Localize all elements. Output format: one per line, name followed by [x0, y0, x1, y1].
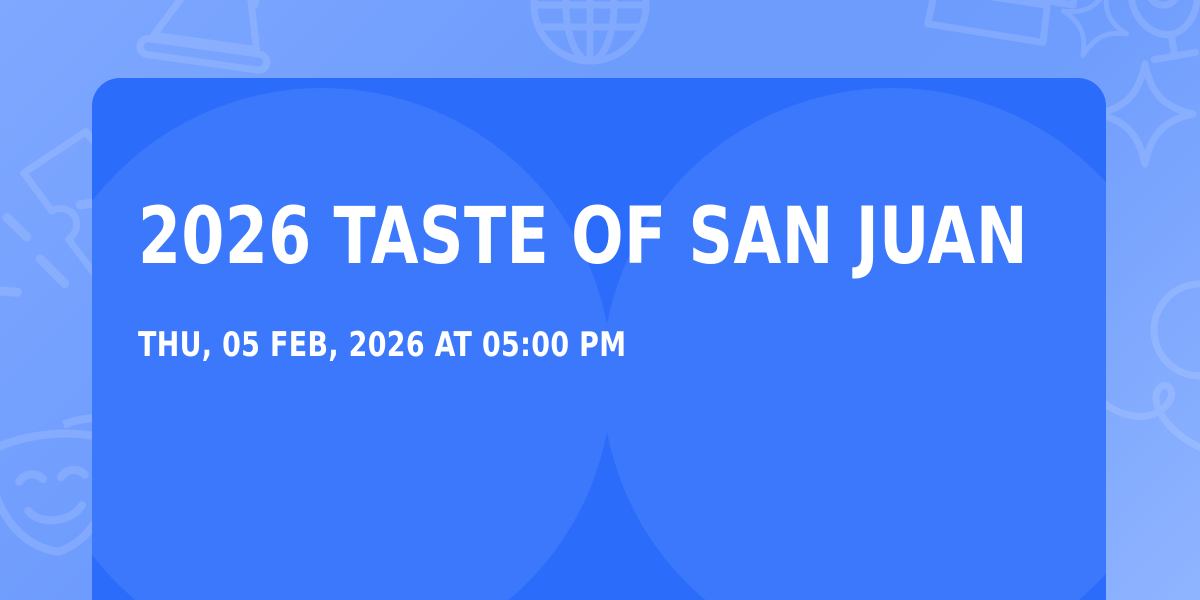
event-card[interactable]: 2026 TASTE OF SAN JUAN THU, 05 FEB, 2026…	[92, 78, 1106, 600]
card-content: 2026 TASTE OF SAN JUAN THU, 05 FEB, 2026…	[138, 78, 1066, 600]
globe-icon	[534, 0, 646, 61]
podium-stage-icon	[139, 0, 281, 71]
microphone-icon	[1123, 0, 1200, 62]
sparkle-small-icon	[1051, 0, 1138, 67]
sparkle-icon	[1097, 64, 1193, 164]
event-datetime: THU, 05 FEB, 2026 AT 05:00 PM	[138, 276, 955, 362]
event-title: 2026 TASTE OF SAN JUAN	[138, 198, 955, 276]
confetti-icon	[0, 174, 106, 315]
ticket-pair-icon	[922, 0, 1087, 72]
event-banner: 2026 TASTE OF SAN JUAN THU, 05 FEB, 2026…	[0, 0, 1200, 600]
